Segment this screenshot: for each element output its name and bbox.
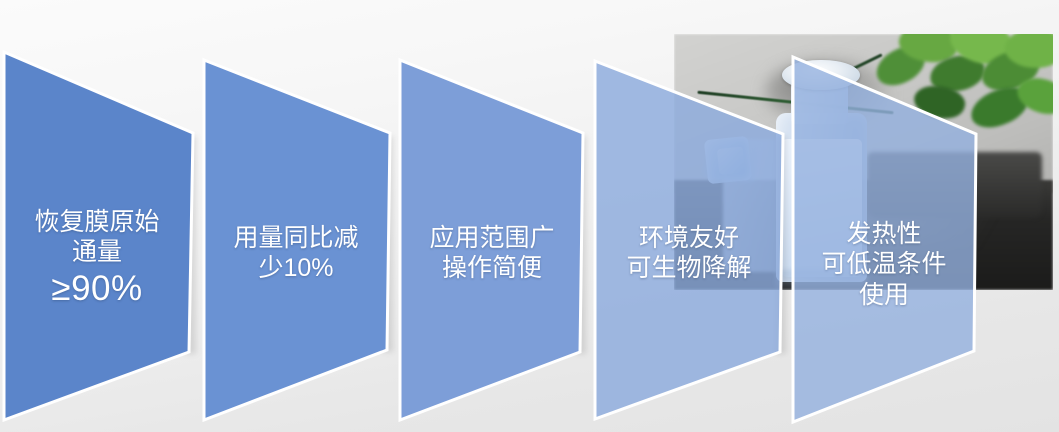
panel-3-caption: 应用范围广 操作简便 [404, 192, 580, 284]
panel-2-shadow [383, 136, 393, 352]
photo-bottle-reflection [776, 270, 867, 290]
panel-1-shape[interactable] [4, 52, 193, 420]
panel-4-shadow [776, 136, 786, 354]
panel-3-shadow [576, 136, 586, 354]
lab-bottle-photo [674, 34, 1053, 290]
panel-1-emphasis: ≥90% [8, 268, 186, 311]
panel-3-shape[interactable] [400, 60, 583, 420]
panel-2-caption: 用量同比减 少10% [208, 192, 384, 284]
photo-bottle-cap [782, 60, 860, 91]
infographic-slide: 恢复膜原始通量≥90% 用量同比减 少10% 应用范围广 操作简便 环境友好 可… [0, 0, 1059, 432]
panel-1-caption: 恢复膜原始通量≥90% [8, 176, 186, 341]
photo-secondary-bottle [723, 139, 784, 272]
panel-2-shape[interactable] [204, 60, 390, 420]
panel-1-text: 恢复膜原始通量≥90% [8, 208, 186, 311]
panel-1-shadow [186, 136, 196, 354]
panel-2-text: 用量同比减 少10% [233, 224, 358, 283]
photo-bottle-contents [782, 139, 862, 277]
panel-3-text: 应用范围广 操作简便 [429, 224, 554, 283]
photo-plant-pot [867, 152, 1041, 219]
